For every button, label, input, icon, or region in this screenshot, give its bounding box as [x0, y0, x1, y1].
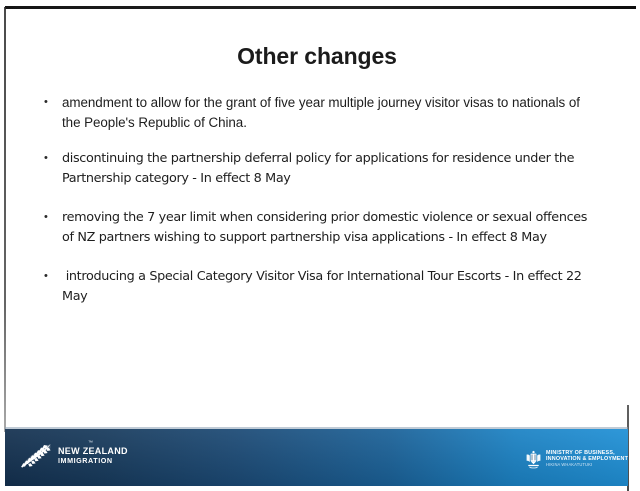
list-item: • discontinuing the partnership deferral…: [38, 149, 590, 188]
immigration-nz-wordmark: ™ NEW ZEALAND IMMIGRATION: [58, 447, 128, 464]
bullet-list: • amendment to allow for the grant of fi…: [38, 93, 590, 323]
immigration-new-zealand-logo: ™ NEW ZEALAND IMMIGRATION: [19, 443, 128, 469]
nz-coat-of-arms-icon: [525, 450, 542, 469]
list-item-text: introducing a Special Category Visitor V…: [62, 267, 590, 306]
mbie-wordmark: MINISTRY OF BUSINESS, INNOVATION & EMPLO…: [546, 451, 628, 468]
slide-top-border: [5, 6, 636, 9]
list-item: • introducing a Special Category Visitor…: [38, 267, 590, 306]
slide-left-border: [4, 7, 6, 432]
mbie-logo: MINISTRY OF BUSINESS, INNOVATION & EMPLO…: [525, 450, 628, 469]
page-title: Other changes: [0, 43, 634, 70]
list-item: • amendment to allow for the grant of fi…: [38, 93, 590, 132]
list-item-text: amendment to allow for the grant of five…: [62, 93, 590, 132]
silver-fern-icon: [19, 443, 53, 469]
bullet-marker-icon: •: [44, 93, 48, 113]
mbie-line-maori: HIKINA WHAKATUTUKI: [546, 463, 628, 468]
bullet-marker-icon: •: [44, 149, 48, 169]
bullet-marker-icon: •: [44, 208, 48, 228]
presentation-slide: Other changes • amendment to allow for t…: [0, 0, 640, 491]
list-item-text: removing the 7 year limit when consideri…: [62, 208, 590, 247]
list-item: • removing the 7 year limit when conside…: [38, 208, 590, 247]
list-item-text: discontinuing the partnership deferral p…: [62, 149, 590, 188]
trademark-icon: ™: [88, 441, 93, 446]
bullet-marker-icon: •: [44, 267, 48, 287]
logo-line-immigration: IMMIGRATION: [58, 457, 128, 465]
